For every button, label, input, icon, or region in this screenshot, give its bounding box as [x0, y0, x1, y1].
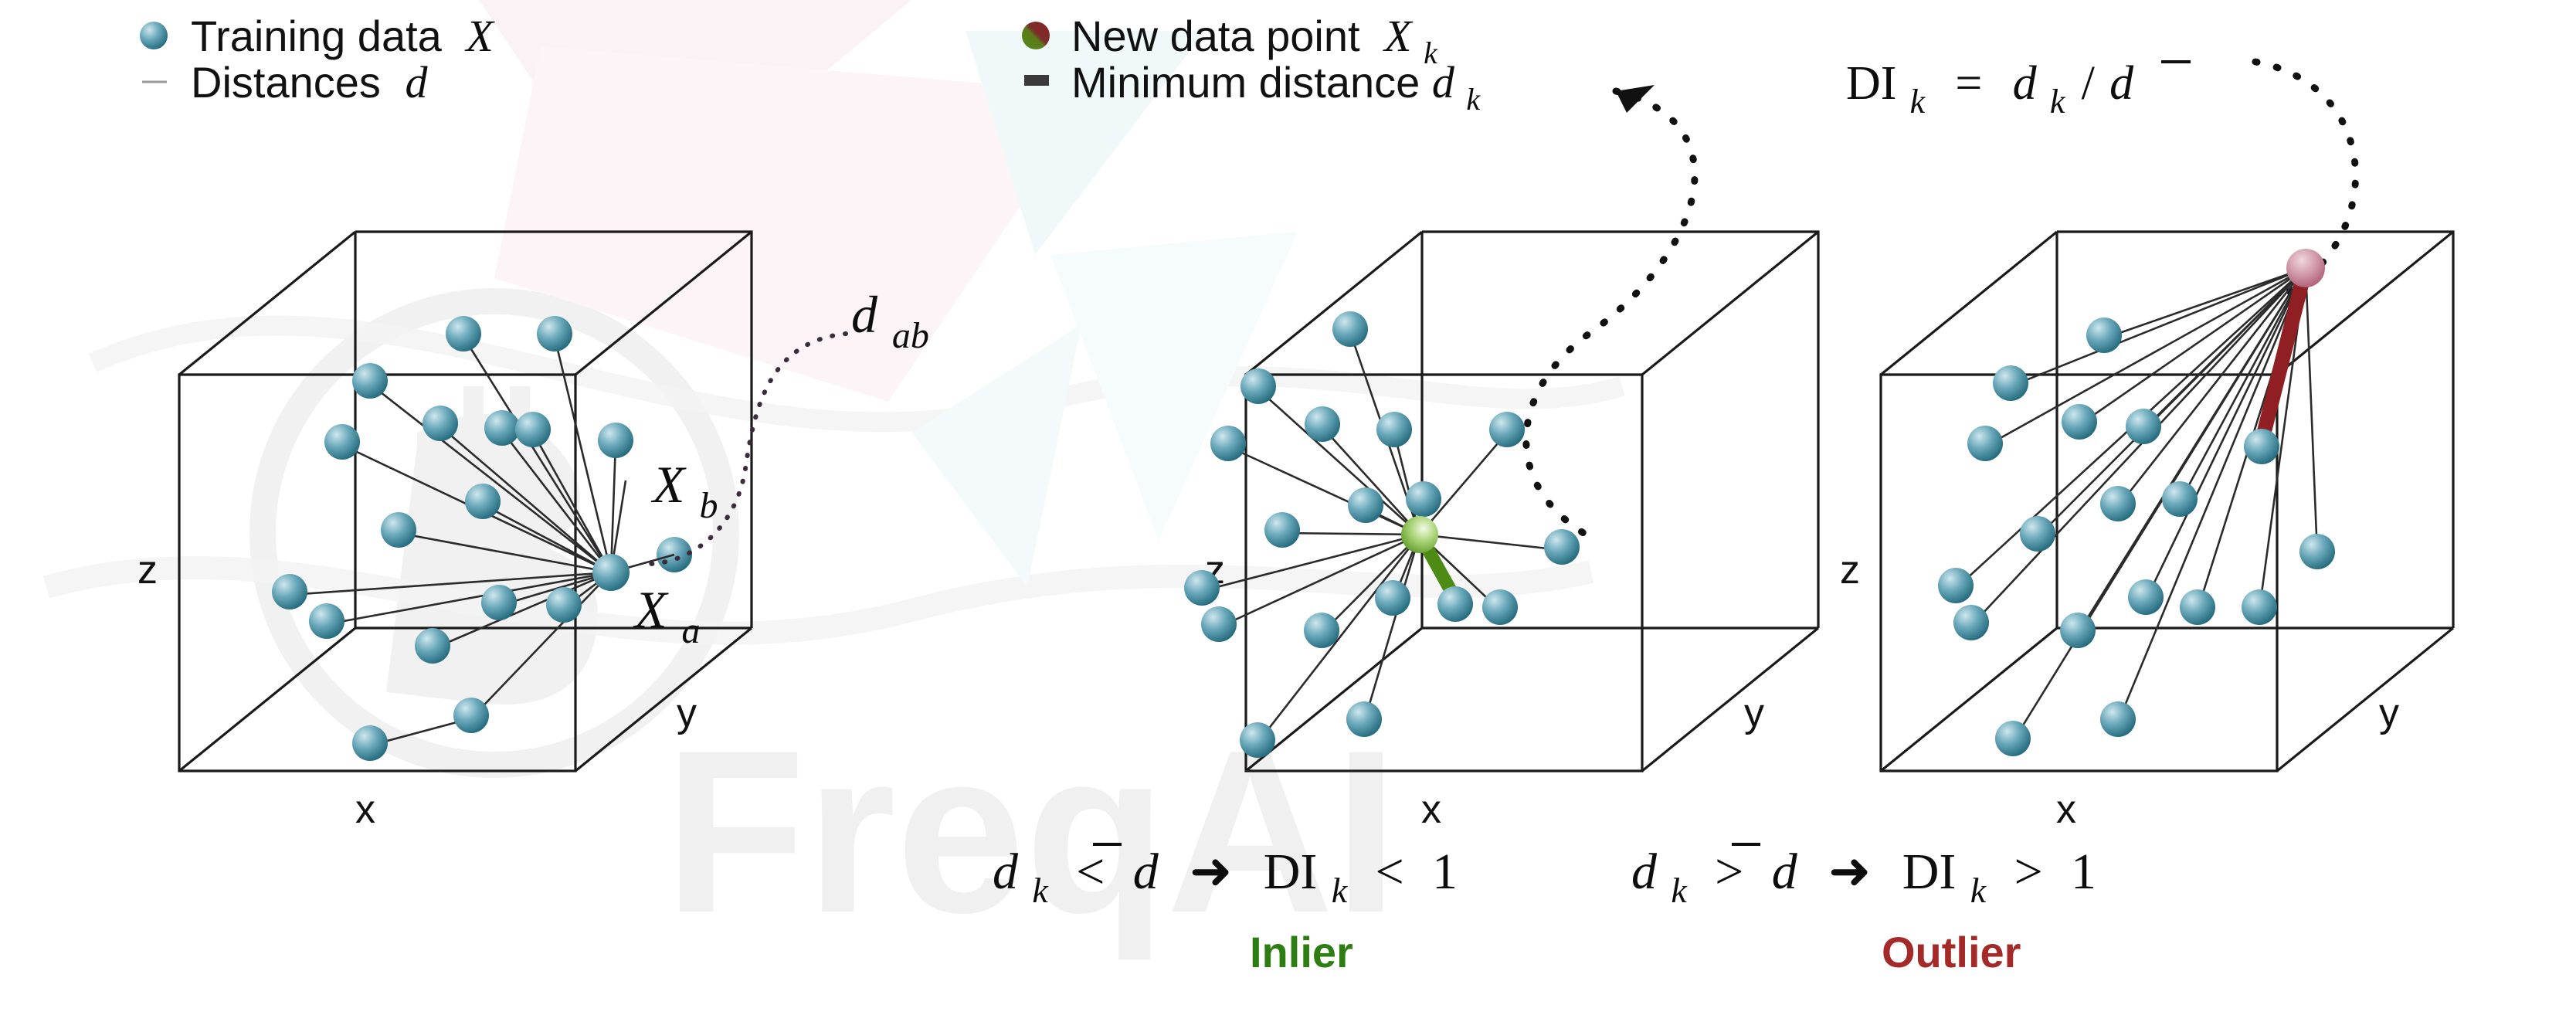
inlier-di-sub: k — [1332, 871, 1349, 910]
training-point — [324, 424, 360, 460]
axis-label-y-outlier: y — [2379, 691, 2399, 735]
svg-text:FreqAI: FreqAI — [664, 701, 1398, 963]
verdict-inlier: Inlier — [1250, 928, 1353, 976]
training-point — [1240, 722, 1275, 758]
training-point — [1953, 605, 1989, 640]
training-point — [1210, 426, 1246, 461]
di-eq: = — [1955, 57, 1982, 110]
training-point — [2128, 579, 2164, 615]
di-lhs-sub: k — [1910, 83, 1926, 121]
training-point — [453, 698, 489, 733]
new-data-point-outlier — [2286, 249, 2325, 287]
outlier-rel2: > — [2014, 844, 2042, 900]
di-num-sub: k — [2050, 83, 2066, 121]
legend-label-new-data-point: New data point — [1071, 12, 1360, 60]
training-point — [381, 512, 416, 548]
training-point — [2162, 481, 2198, 517]
legend-symbol-distances: d — [405, 57, 428, 107]
training-point — [2180, 589, 2215, 625]
di-num: d — [2013, 57, 2038, 110]
training-point — [1482, 589, 1518, 625]
svg-text:DI k = d: DI k = d k / d — [1846, 56, 2134, 124]
distance-lines-outlier — [1956, 268, 2317, 742]
training-point — [2100, 486, 2136, 521]
svg-text:Distances d: Distances d — [191, 57, 428, 107]
training-point — [272, 574, 307, 609]
training-point — [1993, 365, 2028, 401]
training-point — [1332, 311, 1368, 347]
legend-label-training-data: Training data — [191, 12, 443, 60]
cube-wireframe-inlier — [1246, 232, 1818, 771]
axis-label-x-outlier: x — [2056, 787, 2076, 832]
training-point — [2126, 409, 2161, 444]
outlier-di-sub: k — [1970, 871, 1987, 910]
outlier-value: 1 — [2071, 844, 2096, 900]
legend-label-distances: Distances — [191, 58, 381, 107]
training-point — [537, 316, 572, 351]
legend-symbol-min-dist-sub: k — [1466, 82, 1481, 117]
training-point — [2100, 701, 2136, 737]
inlier-dk: d — [993, 844, 1019, 900]
legend-symbol-new-data-point: X — [1383, 11, 1414, 61]
training-point — [515, 412, 551, 447]
axis-label-x-inlier: x — [1421, 787, 1441, 832]
diagram-canvas: FreqAI Training data X Distances d — [0, 0, 2576, 1022]
training-point — [352, 725, 388, 761]
teal-sphere-dot-icon — [140, 22, 168, 49]
svg-text:Training data X: Training data X — [191, 11, 495, 61]
training-point — [309, 603, 344, 639]
training-point — [1967, 426, 2003, 461]
formula-outlier: d k > d ➜ DI k > 1 Outlier — [1631, 842, 2096, 976]
inlier-value: 1 — [1432, 844, 1458, 900]
outlier-dk-sub: k — [1671, 871, 1688, 910]
training-point — [465, 484, 501, 519]
training-point — [415, 628, 450, 664]
inlier-dk-sub: k — [1032, 871, 1049, 910]
di-definition-formula: DI k = d k / d — [1846, 56, 2191, 124]
training-point — [1376, 412, 1412, 447]
training-point — [446, 316, 481, 351]
training-point — [1305, 406, 1340, 442]
new-data-point-inlier — [1401, 516, 1438, 553]
training-point — [2242, 589, 2277, 625]
training-point — [2086, 317, 2122, 353]
training-point — [1544, 529, 1580, 565]
di-slash: / — [2082, 57, 2096, 110]
training-point — [1938, 568, 1974, 603]
training-point — [2299, 534, 2335, 569]
training-point — [352, 363, 388, 399]
training-point — [1348, 487, 1383, 523]
svg-text:d k > d: d k > d ➜ DI k > 1 — [1631, 842, 2096, 913]
dotted-connector-arrowhead — [1616, 85, 1655, 113]
outlier-rel: > — [1715, 844, 1743, 900]
training-point — [2020, 516, 2055, 552]
training-point — [1264, 512, 1300, 548]
training-point — [1201, 606, 1237, 642]
nearest-neighbor-point — [2244, 429, 2279, 464]
training-point — [546, 587, 582, 623]
panel-outlier: z x y — [1840, 232, 2453, 832]
legend-symbol-training-data: X — [464, 11, 495, 61]
inlier-rel: < — [1076, 844, 1105, 900]
training-point — [1184, 570, 1220, 606]
outlier-mean: d — [1772, 844, 1798, 900]
axis-label-z-outlier: z — [1840, 548, 1860, 592]
training-point — [1375, 580, 1410, 616]
diagram-root: FreqAI Training data X Distances d — [0, 0, 2576, 1022]
training-point — [484, 410, 520, 446]
inlier-rel2: < — [1375, 844, 1403, 900]
training-point — [2060, 613, 2096, 648]
legend-symbol-min-dist-d: d — [1432, 57, 1455, 107]
training-point — [1346, 701, 1382, 737]
outlier-dk: d — [1631, 844, 1658, 900]
watermark: FreqAI — [46, 0, 1622, 963]
training-point — [423, 406, 458, 441]
dotted-connector-to-outlier — [1526, 91, 1695, 533]
training-point — [2062, 404, 2097, 440]
training-point — [481, 585, 517, 620]
outlier-di: DI — [1902, 844, 1957, 900]
axis-label-y-training: y — [677, 691, 697, 735]
inlier-mean: d — [1133, 844, 1159, 900]
di-den: d — [2109, 57, 2134, 110]
training-point — [1304, 613, 1339, 648]
di-lhs: DI — [1846, 57, 1896, 110]
axis-label-x-training: x — [355, 787, 375, 832]
axis-label-z-training: z — [137, 548, 158, 592]
legend-item-distances: Distances d — [142, 57, 428, 107]
outlier-arrow: ➜ — [1828, 844, 1871, 900]
legend-item-training-data: Training data X — [140, 11, 495, 61]
inlier-arrow: ➜ — [1190, 844, 1232, 900]
nearest-neighbor-point — [1437, 586, 1473, 622]
training-point — [1995, 721, 2031, 756]
training-point — [598, 423, 633, 458]
legend-label-minimum-distance: Minimum distance — [1071, 58, 1420, 107]
hub-point-xa — [592, 554, 630, 591]
training-point — [1489, 412, 1525, 447]
inlier-di: DI — [1264, 844, 1318, 900]
green-red-sphere-dot-icon — [1022, 22, 1050, 49]
training-point — [1240, 368, 1276, 404]
axis-label-y-inlier: y — [1744, 691, 1764, 735]
verdict-outlier: Outlier — [1882, 928, 2021, 976]
training-point — [1406, 481, 1441, 517]
